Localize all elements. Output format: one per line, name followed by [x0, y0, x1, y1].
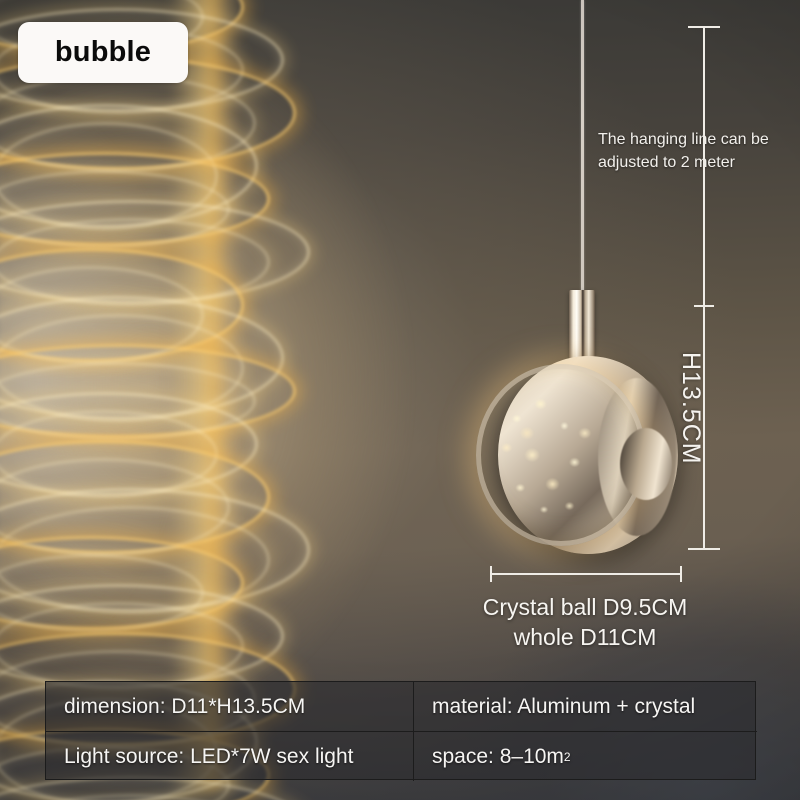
spec-cell-material: material: Aluminum + crystal — [414, 682, 757, 732]
diameter-tick-left — [490, 566, 492, 582]
height-tick-top — [688, 26, 720, 28]
product-name-label: bubble — [55, 36, 151, 69]
product-name-badge: bubble — [18, 22, 188, 83]
pendant-lamp — [470, 350, 685, 565]
height-dimension-line — [703, 26, 705, 550]
hanging-line-note: The hanging line can be adjusted to 2 me… — [598, 128, 798, 174]
specification-table: dimension: D11*H13.5CM material: Aluminu… — [45, 681, 756, 780]
housing-front-edge — [620, 428, 672, 500]
spec-material-text: material: Aluminum + crystal — [432, 695, 695, 719]
spec-cell-dimension: dimension: D11*H13.5CM — [46, 682, 414, 732]
diameter-caption-line2: whole D11CM — [420, 622, 750, 652]
height-tick-bottom — [688, 548, 720, 550]
hanging-cable — [581, 0, 584, 295]
spec-dimension-text: dimension: D11*H13.5CM — [64, 695, 305, 719]
product-image-canvas: bubble The hanging line can be adjusted … — [0, 0, 800, 800]
spec-cell-light-source: Light source: LED*7W sex light — [46, 732, 414, 781]
spec-space-text: space: 8–10m — [432, 745, 564, 769]
diameter-dimension-line — [490, 573, 682, 575]
diameter-tick-right — [680, 566, 682, 582]
spec-space-superscript: 2 — [564, 750, 571, 764]
diameter-caption: Crystal ball D9.5CM whole D11CM — [420, 592, 750, 653]
height-tick-middle — [694, 305, 714, 307]
spec-cell-space: space: 8–10m2 — [414, 732, 757, 781]
spec-light-source-text: Light source: LED*7W sex light — [64, 745, 353, 769]
height-dimension-label: H13.5CM — [676, 352, 705, 465]
diameter-caption-line1: Crystal ball D9.5CM — [420, 592, 750, 622]
